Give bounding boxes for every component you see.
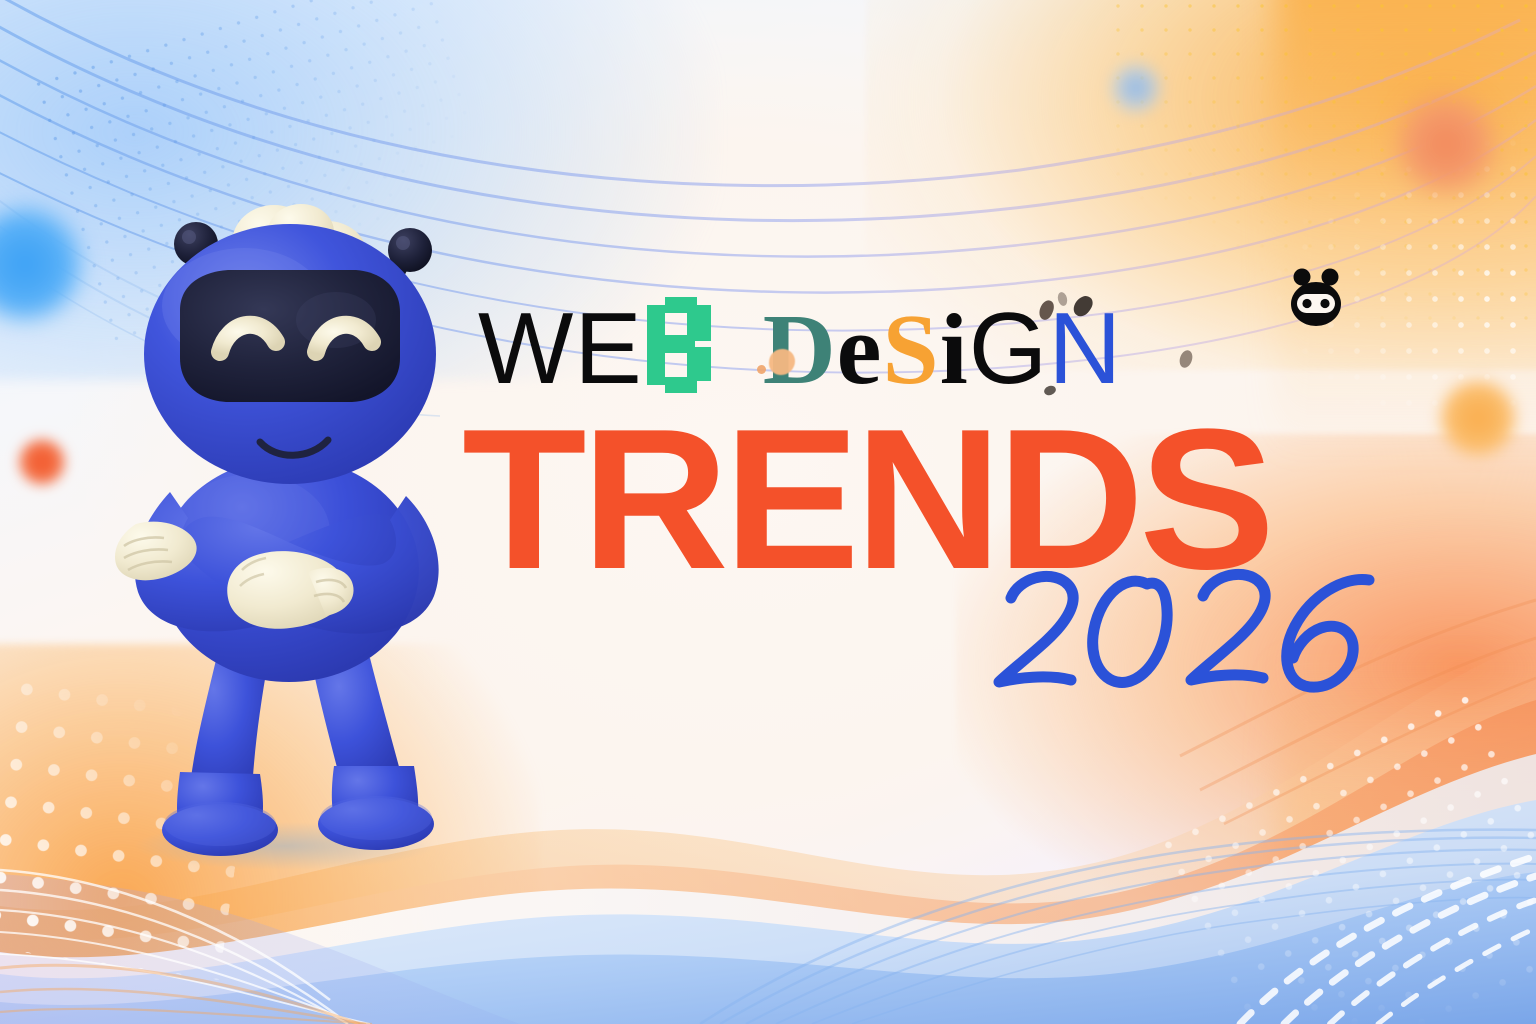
paper-speck bbox=[1178, 349, 1195, 370]
orange-speck bbox=[757, 365, 766, 374]
headline-letter-e1: E bbox=[574, 299, 642, 400]
bottom-left-wave-lines bbox=[0, 870, 370, 1024]
headline-web-design: WEDeSiGN bbox=[478, 297, 1122, 400]
orange-accent-circle-right bbox=[1438, 378, 1518, 458]
right-orange-strip bbox=[1276, 0, 1536, 1024]
robot-mascot bbox=[84, 140, 484, 870]
blue-accent-circle-left bbox=[0, 205, 84, 323]
robot-head bbox=[144, 224, 436, 484]
headline-letter-b-pixel bbox=[647, 297, 711, 393]
headline-letter-s: S bbox=[883, 299, 940, 400]
headline-letter-d: D bbox=[763, 299, 837, 400]
bottom-left-orange-lines bbox=[0, 965, 372, 1024]
headline-letter-w: W bbox=[478, 299, 574, 400]
headline-letter-i: i bbox=[940, 299, 969, 400]
poster-canvas: WEDeSiGN TRENDS bbox=[0, 0, 1536, 1024]
orange-accent-circle-top-right bbox=[1394, 92, 1498, 196]
red-accent-dot-left bbox=[18, 438, 66, 486]
blue-accent-dot-top bbox=[1110, 62, 1162, 114]
halftone-bottom-right bbox=[1148, 680, 1536, 1024]
headline-letter-g: G bbox=[969, 299, 1049, 400]
bottom-right-dashed-lines bbox=[1240, 856, 1536, 1024]
bottom-wave-lines bbox=[700, 830, 1536, 1024]
headline-letter-e2: e bbox=[837, 299, 883, 400]
robot-head-icon bbox=[1285, 268, 1347, 328]
year-2026-script bbox=[975, 562, 1395, 702]
